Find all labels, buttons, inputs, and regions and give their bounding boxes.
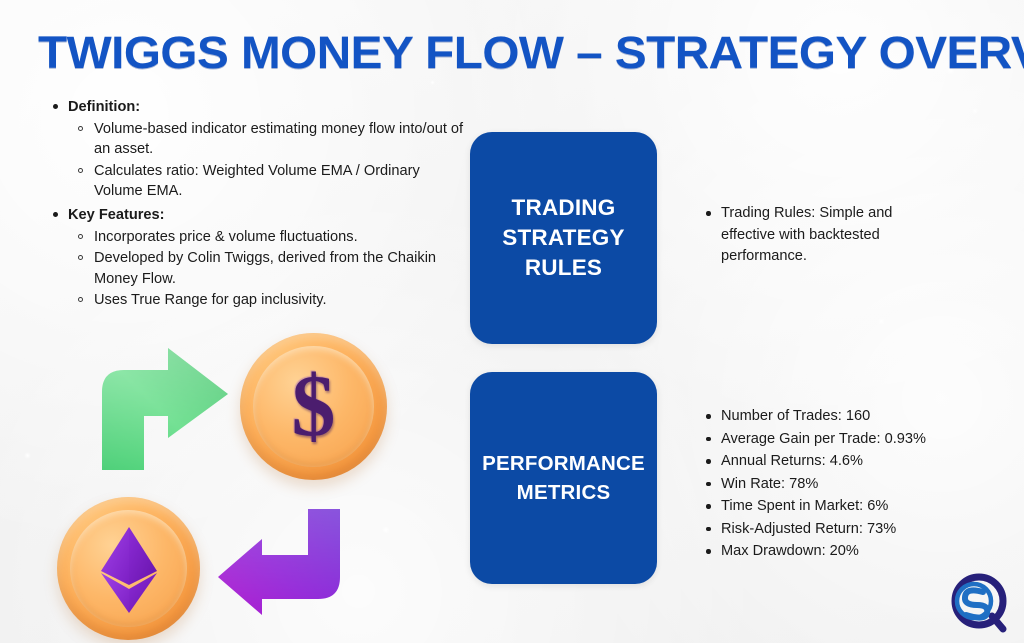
performance-metrics-list: Number of Trades: 160 Average Gain per T… — [702, 406, 972, 564]
list-heading-label: Definition: — [68, 99, 140, 115]
bokeh-speck — [382, 526, 390, 534]
bullet-dot-icon — [53, 212, 58, 217]
bullet-dot-icon — [706, 437, 711, 442]
purple-down-left-arrow-icon — [216, 505, 344, 617]
list-item-label: Developed by Colin Twiggs, derived from … — [94, 250, 436, 287]
list-item: Number of Trades: 160 — [702, 406, 972, 428]
list-item-label: Annual Returns: 4.6% — [721, 453, 863, 469]
bullet-circle-icon — [78, 297, 83, 302]
list-item: Time Spent in Market: 6% — [702, 496, 972, 518]
list-item: Volume-based indicator estimating money … — [44, 119, 464, 160]
bullet-dot-icon — [706, 482, 711, 487]
list-item-label: Trading Rules: Simple and effective with… — [721, 205, 892, 264]
bokeh-speck — [24, 452, 31, 459]
list-item-label: Uses True Range for gap inclusivity. — [94, 292, 327, 308]
green-up-right-arrow-icon — [96, 348, 232, 474]
bullet-circle-icon — [78, 255, 83, 260]
callout-trading-strategy-rules: TRADING STRATEGY RULES — [470, 132, 657, 344]
list-item-label: Calculates ratio: Weighted Volume EMA / … — [94, 163, 420, 200]
list-item: Average Gain per Trade: 0.93% — [702, 429, 972, 451]
list-item: Annual Returns: 4.6% — [702, 451, 972, 473]
dollar-coin-icon: $ — [240, 333, 387, 480]
ethereum-coin-icon — [57, 497, 200, 640]
trading-rules-list: Trading Rules: Simple and effective with… — [702, 203, 942, 269]
list-item: Win Rate: 78% — [702, 474, 972, 496]
list-item-label: Volume-based indicator estimating money … — [94, 121, 463, 158]
list-item: Risk-Adjusted Return: 73% — [702, 519, 972, 541]
list-item-label: Time Spent in Market: 6% — [721, 498, 888, 514]
list-item: Incorporates price & volume fluctuations… — [44, 227, 464, 248]
slide-canvas: TWIGGS MONEY FLOW – STRATEGY OVERVIEW De… — [0, 0, 1024, 643]
bullet-circle-icon — [78, 168, 83, 173]
bullet-dot-icon — [706, 459, 711, 464]
bullet-circle-icon — [78, 126, 83, 131]
bullet-dot-icon — [706, 414, 711, 419]
list-heading-definition: Definition: — [44, 97, 464, 118]
bullet-dot-icon — [53, 104, 58, 109]
page-title: TWIGGS MONEY FLOW – STRATEGY OVERVIEW — [38, 24, 1024, 82]
definition-feature-list: Definition: Volume-based indicator estim… — [44, 97, 464, 311]
list-heading-key-features: Key Features: — [44, 205, 464, 226]
list-item-label: Risk-Adjusted Return: 73% — [721, 521, 896, 537]
list-item: Developed by Colin Twiggs, derived from … — [44, 248, 464, 289]
bullet-circle-icon — [78, 234, 83, 239]
bullet-dot-icon — [706, 549, 711, 554]
list-heading-label: Key Features: — [68, 207, 165, 223]
list-item-label: Max Drawdown: 20% — [721, 543, 859, 559]
bullet-dot-icon — [706, 527, 711, 532]
list-item-label: Win Rate: 78% — [721, 476, 818, 492]
dollar-symbol: $ — [292, 363, 336, 451]
list-item-label: Average Gain per Trade: 0.93% — [721, 431, 926, 447]
callout-performance-metrics: PERFORMANCE METRICS — [470, 372, 657, 584]
callout-label: PERFORMANCE METRICS — [470, 449, 657, 507]
list-item-label: Incorporates price & volume fluctuations… — [94, 229, 358, 245]
list-item: Max Drawdown: 20% — [702, 541, 972, 563]
list-item: Uses True Range for gap inclusivity. — [44, 290, 464, 311]
list-item-label: Number of Trades: 160 — [721, 408, 870, 424]
bullet-dot-icon — [706, 504, 711, 509]
sq-logo-icon — [948, 572, 1010, 634]
list-item: Calculates ratio: Weighted Volume EMA / … — [44, 161, 464, 202]
bokeh-speck — [878, 318, 885, 325]
ethereum-diamond-icon — [79, 519, 179, 619]
bullet-dot-icon — [706, 211, 711, 216]
list-item: Trading Rules: Simple and effective with… — [702, 203, 942, 268]
bokeh-speck — [972, 108, 978, 114]
callout-label: TRADING STRATEGY RULES — [470, 193, 657, 283]
